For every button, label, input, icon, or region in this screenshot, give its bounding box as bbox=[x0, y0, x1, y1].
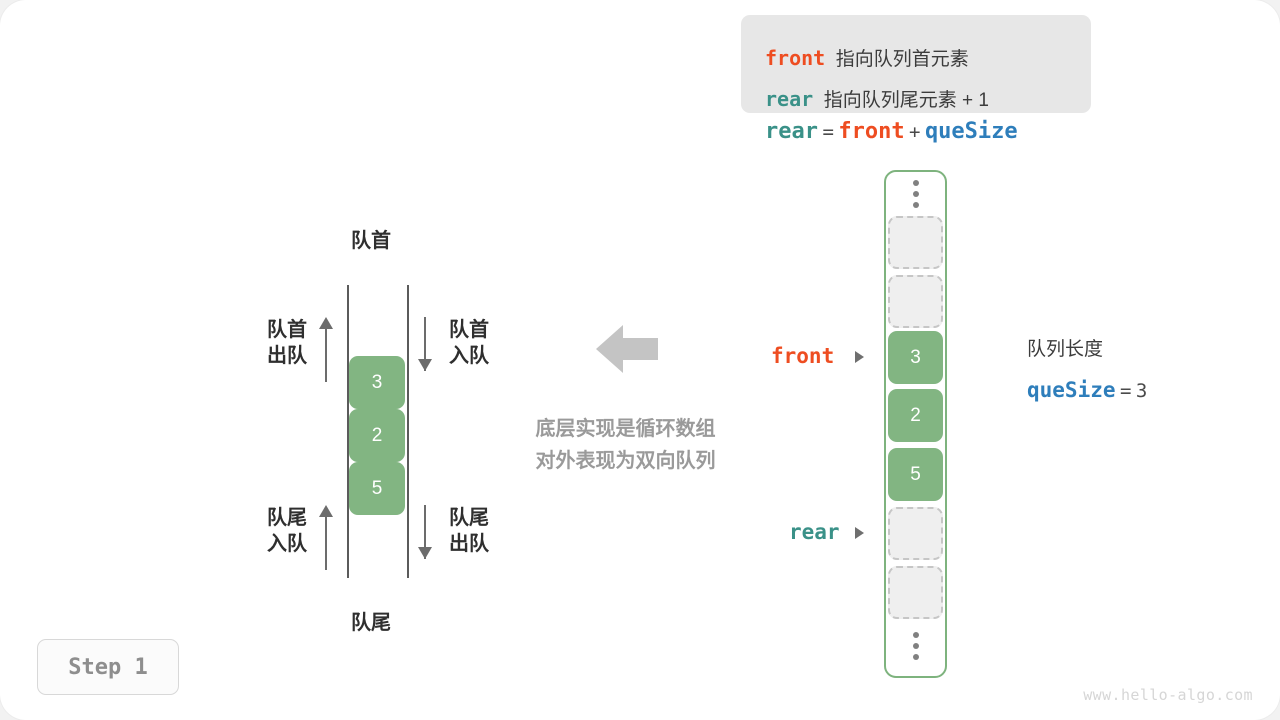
legend-front-text: 指向队列首元素 bbox=[836, 49, 969, 70]
label-tail-dequeue-line1: 队尾 bbox=[449, 505, 489, 531]
array-slot-filled: 2 bbox=[888, 389, 943, 442]
arrow-head-dequeue-head-icon bbox=[319, 317, 333, 329]
center-note-line2: 对外表现为双向队列 bbox=[503, 445, 748, 477]
array-slot-empty bbox=[888, 216, 943, 269]
array-slot-empty bbox=[888, 275, 943, 328]
pointer-rear-arrow-icon bbox=[855, 527, 864, 539]
label-tail-enqueue-line1: 队尾 bbox=[251, 505, 307, 531]
label-head-dequeue-line2: 出队 bbox=[251, 343, 307, 369]
deque-cell: 3 bbox=[349, 356, 405, 409]
step-badge: Step 1 bbox=[37, 639, 179, 695]
queue-size-equals: = bbox=[1120, 380, 1131, 402]
formula-equals: = bbox=[822, 121, 833, 143]
arrow-head-enqueue-head-icon bbox=[418, 359, 432, 371]
queue-size-var: queSize bbox=[1027, 378, 1116, 402]
label-head-dequeue-line1: 队首 bbox=[251, 317, 307, 343]
array-slot-empty bbox=[888, 507, 943, 560]
center-note-line1: 底层实现是循环数组 bbox=[503, 413, 748, 445]
formula-plus: + bbox=[909, 121, 920, 143]
pointer-front: front bbox=[771, 346, 834, 367]
deque-head-caption: 队首 bbox=[351, 229, 391, 255]
label-tail-enqueue: 队尾 入队 bbox=[251, 505, 307, 557]
deque-tail-caption: 队尾 bbox=[351, 611, 391, 637]
formula-lhs: rear bbox=[765, 119, 818, 144]
label-head-enqueue-line1: 队首 bbox=[449, 317, 489, 343]
formula-operand-front: front bbox=[838, 119, 904, 144]
center-note: 底层实现是循环数组 对外表现为双向队列 bbox=[503, 413, 748, 478]
queue-size-value-line: queSize = 3 bbox=[1027, 380, 1147, 401]
formula-line: rear = front + queSize bbox=[765, 121, 1018, 143]
array-slot-filled: 3 bbox=[888, 331, 943, 384]
label-tail-dequeue-line2: 出队 bbox=[449, 531, 489, 557]
deque-cell: 5 bbox=[349, 462, 405, 515]
legend-line-rear: rear 指向队列尾元素 + 1 bbox=[765, 89, 989, 110]
arrow-tail-dequeue-head-icon bbox=[418, 547, 432, 559]
pointer-rear: rear bbox=[789, 522, 840, 543]
transform-left-arrow-icon bbox=[596, 323, 658, 375]
deque-cell: 2 bbox=[349, 409, 405, 462]
array-bottom-ellipsis-icon bbox=[909, 632, 922, 660]
pointer-front-arrow-icon bbox=[855, 351, 864, 363]
arrow-tail-enqueue-head-icon bbox=[319, 505, 333, 517]
legend-front-code: front bbox=[765, 46, 825, 70]
legend-rear-code: rear bbox=[765, 87, 813, 111]
formula-operand-quesize: queSize bbox=[925, 119, 1018, 144]
queue-size-value: 3 bbox=[1136, 380, 1147, 402]
queue-size-label: 队列长度 bbox=[1027, 340, 1147, 359]
label-tail-enqueue-line2: 入队 bbox=[251, 531, 307, 557]
legend-line-front: front 指向队列首元素 bbox=[765, 48, 969, 69]
array-slot-empty bbox=[888, 566, 943, 619]
pointer-front-label: front bbox=[771, 344, 834, 368]
arrow-tail-enqueue-shaft bbox=[325, 516, 327, 570]
array-top-ellipsis-icon bbox=[909, 180, 922, 208]
label-head-enqueue-line2: 入队 bbox=[449, 343, 489, 369]
label-head-dequeue: 队首 出队 bbox=[251, 317, 307, 369]
label-head-enqueue: 队首 入队 bbox=[449, 317, 489, 369]
arrow-head-dequeue-shaft bbox=[325, 328, 327, 382]
pointer-rear-label: rear bbox=[789, 520, 840, 544]
label-tail-dequeue: 队尾 出队 bbox=[449, 505, 489, 557]
array-slot-filled: 5 bbox=[888, 448, 943, 501]
diagram-canvas: front 指向队列首元素 rear 指向队列尾元素 + 1 rear = fr… bbox=[0, 0, 1280, 720]
deque-rail-right bbox=[407, 285, 409, 578]
queue-size-note: 队列长度 queSize = 3 bbox=[1027, 340, 1147, 401]
legend-box: front 指向队列首元素 rear 指向队列尾元素 + 1 bbox=[741, 15, 1091, 113]
watermark: www.hello-algo.com bbox=[1083, 686, 1253, 704]
legend-rear-text: 指向队列尾元素 + 1 bbox=[824, 90, 989, 111]
